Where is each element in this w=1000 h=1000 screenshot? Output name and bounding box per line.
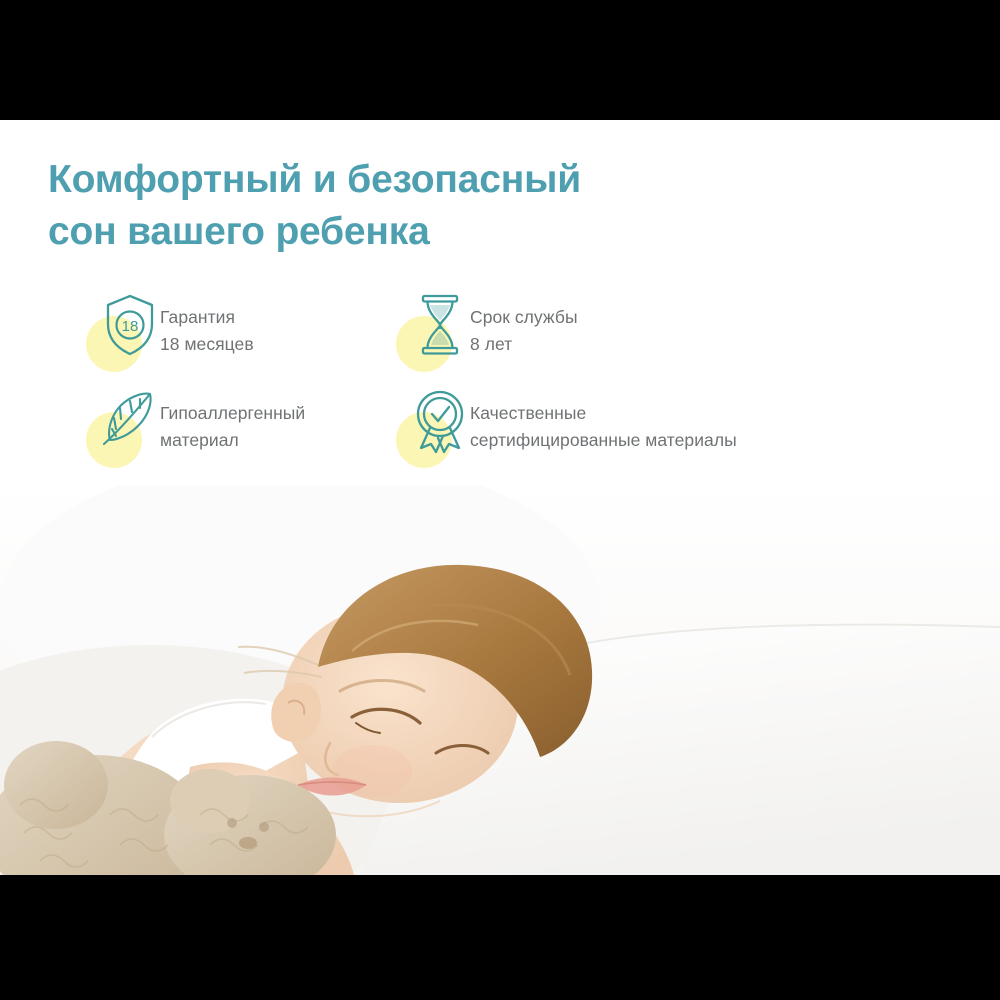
feature-list: 18 Гарантия 18 месяцев	[86, 292, 846, 484]
feature-warranty-label: Гарантия 18 месяцев	[160, 292, 254, 358]
promo-banner: Комфортный и безопасный сон вашего ребен…	[0, 120, 1000, 875]
banner-stage: Комфортный и безопасный сон вашего ребен…	[0, 0, 1000, 1000]
feature-hypoallergenic-label: Гипоаллергенный материал	[160, 388, 305, 454]
page-title: Комфортный и безопасный сон вашего ребен…	[48, 154, 688, 258]
hero-photo	[0, 485, 1000, 875]
letterbox-top	[0, 0, 1000, 120]
feature-certified-label: Качественные сертифицированные материалы	[470, 388, 737, 454]
feature-lifespan-label: Срок службы 8 лет	[470, 292, 578, 358]
feature-row-2: Гипоаллергенный материал	[86, 388, 846, 462]
shield-badge-value: 18	[122, 318, 139, 335]
feature-certified[interactable]: Качественные сертифицированные материалы	[396, 388, 846, 462]
feature-lifespan[interactable]: Срок службы 8 лет	[396, 292, 846, 366]
hourglass-icon	[396, 292, 470, 366]
shield-18-icon: 18	[86, 292, 160, 366]
feather-icon	[86, 388, 160, 462]
letterbox-bottom	[0, 875, 1000, 1000]
feature-warranty[interactable]: 18 Гарантия 18 месяцев	[86, 292, 396, 366]
award-check-icon	[396, 388, 470, 462]
feature-row-1: 18 Гарантия 18 месяцев	[86, 292, 846, 366]
feature-hypoallergenic[interactable]: Гипоаллергенный материал	[86, 388, 396, 462]
